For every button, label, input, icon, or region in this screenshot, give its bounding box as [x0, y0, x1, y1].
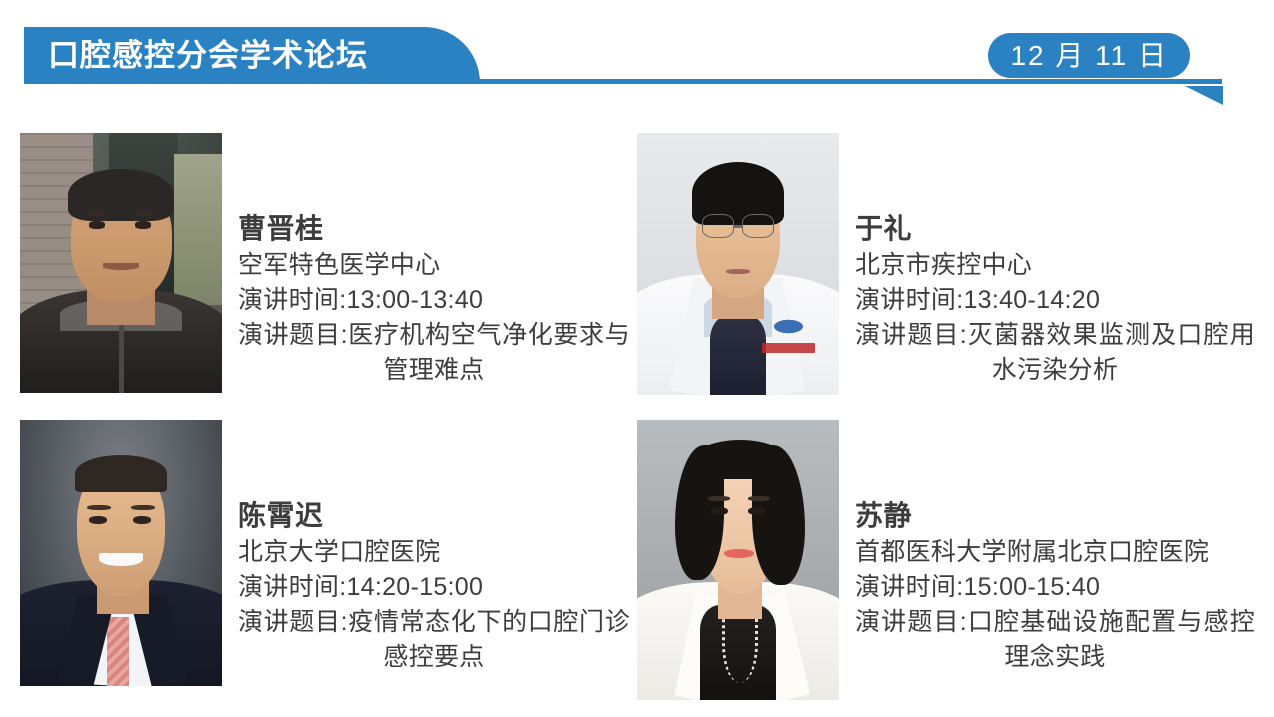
- page-title: 口腔感控分会学术论坛: [24, 40, 368, 71]
- speaker-name: 于礼: [855, 211, 1255, 248]
- speaker-topic: 演讲题目:疫情常态化下的口腔门诊感控要点: [238, 605, 630, 675]
- speaker-photo: [637, 420, 839, 700]
- speaker-photo: [20, 133, 222, 393]
- speaker-name: 曹晋桂: [238, 211, 630, 248]
- speaker-name: 苏静: [855, 498, 1255, 535]
- speaker-name: 陈霄迟: [238, 498, 630, 535]
- speaker-info: 于礼 北京市疾控中心 演讲时间:13:40-14:20 演讲题目:灭菌器效果监测…: [855, 133, 1255, 388]
- speaker-photo: [637, 133, 839, 395]
- speaker-time: 演讲时间:14:20-15:00: [238, 570, 630, 605]
- date-badge: 12 月 11 日: [988, 33, 1190, 78]
- speaker-card: 于礼 北京市疾控中心 演讲时间:13:40-14:20 演讲题目:灭菌器效果监测…: [637, 133, 1255, 395]
- speaker-info: 曹晋桂 空军特色医学中心 演讲时间:13:00-13:40 演讲题目:医疗机构空…: [238, 133, 630, 388]
- speaker-organization: 北京市疾控中心: [855, 248, 1255, 283]
- speaker-time: 演讲时间:13:00-13:40: [238, 283, 630, 318]
- slide-header: 口腔感控分会学术论坛 12 月 11 日: [0, 0, 1274, 120]
- speaker-info: 陈霄迟 北京大学口腔医院 演讲时间:14:20-15:00 演讲题目:疫情常态化…: [238, 420, 630, 675]
- speaker-topic: 演讲题目:灭菌器效果监测及口腔用水污染分析: [855, 318, 1255, 388]
- speaker-organization: 北京大学口腔医院: [238, 535, 630, 570]
- speaker-info: 苏静 首都医科大学附属北京口腔医院 演讲时间:15:00-15:40 演讲题目:…: [855, 420, 1255, 675]
- title-banner: 口腔感控分会学术论坛: [24, 27, 480, 84]
- speaker-topic: 演讲题目:口腔基础设施配置与感控理念实践: [855, 605, 1255, 675]
- speaker-organization: 空军特色医学中心: [238, 248, 630, 283]
- header-divider-line: [479, 79, 1222, 84]
- speaker-card: 曹晋桂 空军特色医学中心 演讲时间:13:00-13:40 演讲题目:医疗机构空…: [20, 133, 630, 393]
- speaker-card: 苏静 首都医科大学附属北京口腔医院 演讲时间:15:00-15:40 演讲题目:…: [637, 420, 1255, 700]
- speaker-card: 陈霄迟 北京大学口腔医院 演讲时间:14:20-15:00 演讲题目:疫情常态化…: [20, 420, 630, 686]
- date-badge-label: 12 月 11 日: [1010, 42, 1168, 70]
- speaker-photo: [20, 420, 222, 686]
- speaker-time: 演讲时间:15:00-15:40: [855, 570, 1255, 605]
- triangle-accent-icon: [1185, 86, 1223, 105]
- speaker-organization: 首都医科大学附属北京口腔医院: [855, 535, 1255, 570]
- speaker-grid: 曹晋桂 空军特色医学中心 演讲时间:13:00-13:40 演讲题目:医疗机构空…: [0, 120, 1274, 717]
- speaker-topic: 演讲题目:医疗机构空气净化要求与管理难点: [238, 318, 630, 388]
- speaker-time: 演讲时间:13:40-14:20: [855, 283, 1255, 318]
